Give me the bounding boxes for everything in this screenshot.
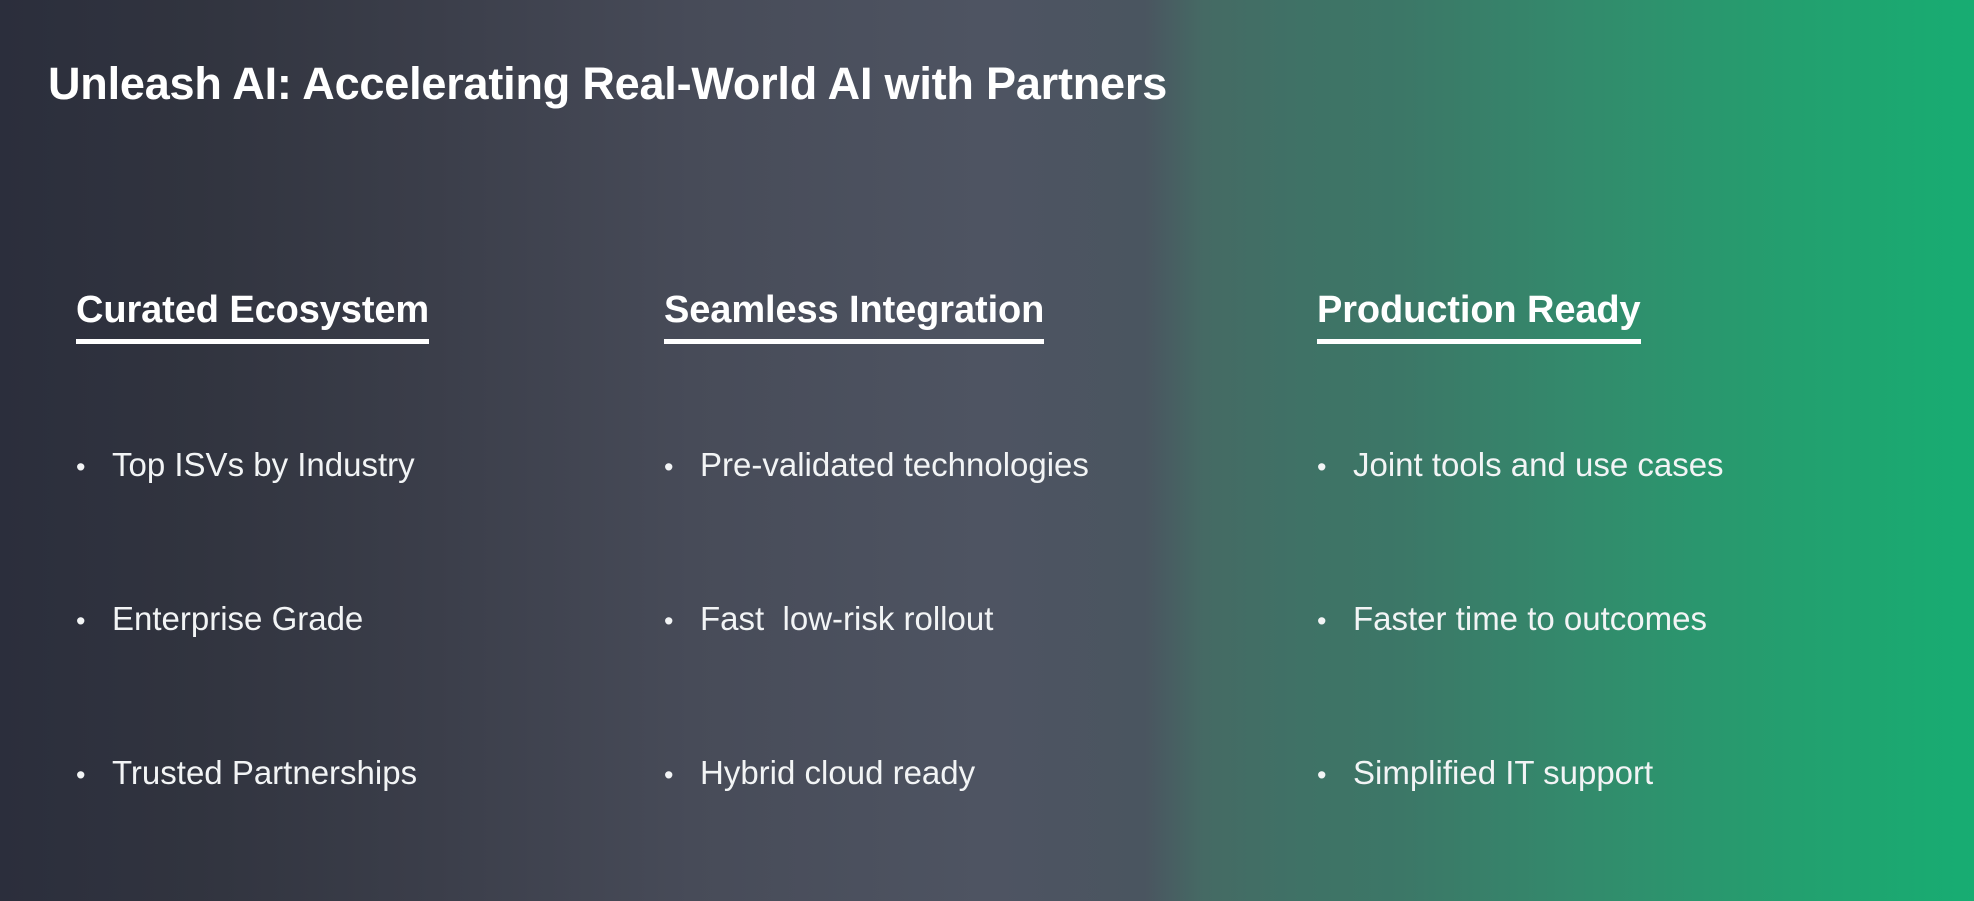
list-item: • Faster time to outcomes xyxy=(1317,602,1724,756)
bullet-list: • Top ISVs by Industry • Enterprise Grad… xyxy=(76,448,417,901)
list-item: • Pre-validated technologies xyxy=(664,448,1089,602)
list-item-label: Trusted Partnerships xyxy=(112,756,417,789)
column-curated-ecosystem: Curated Ecosystem • Top ISVs by Industry… xyxy=(0,290,645,850)
bullet-dot-icon: • xyxy=(1317,608,1353,635)
list-item: • Trusted Partnerships xyxy=(76,756,417,901)
presentation-slide: Unleash AI: Accelerating Real-World AI w… xyxy=(0,0,1974,901)
column-heading: Production Ready xyxy=(1317,290,1641,344)
list-item: • Hybrid cloud ready xyxy=(664,756,1089,901)
list-item-label: Faster time to outcomes xyxy=(1353,602,1707,635)
column-heading: Curated Ecosystem xyxy=(76,290,429,344)
list-item-label: Top ISVs by Industry xyxy=(112,448,415,481)
bullet-dot-icon: • xyxy=(664,608,700,635)
bullet-list: • Joint tools and use cases • Faster tim… xyxy=(1317,448,1724,901)
column-heading: Seamless Integration xyxy=(664,290,1044,344)
list-item-label: Pre-validated technologies xyxy=(700,448,1089,481)
list-item: • Top ISVs by Industry xyxy=(76,448,417,602)
list-item-label: Hybrid cloud ready xyxy=(700,756,975,789)
bullet-dot-icon: • xyxy=(1317,454,1353,481)
list-item: • Joint tools and use cases xyxy=(1317,448,1724,602)
bullet-dot-icon: • xyxy=(76,762,112,789)
bullet-dot-icon: • xyxy=(1317,762,1353,789)
list-item-label: Fast low-risk rollout xyxy=(700,602,993,635)
list-item-label: Simplified IT support xyxy=(1353,756,1653,789)
bullet-dot-icon: • xyxy=(76,608,112,635)
list-item-label: Joint tools and use cases xyxy=(1353,448,1724,481)
column-production-ready: Production Ready • Joint tools and use c… xyxy=(1297,290,1974,850)
bullet-dot-icon: • xyxy=(664,762,700,789)
bullet-list: • Pre-validated technologies • Fast low-… xyxy=(664,448,1089,901)
columns-container: Curated Ecosystem • Top ISVs by Industry… xyxy=(0,290,1974,850)
bullet-dot-icon: • xyxy=(664,454,700,481)
page-title: Unleash AI: Accelerating Real-World AI w… xyxy=(48,58,1648,110)
column-seamless-integration: Seamless Integration • Pre-validated tec… xyxy=(645,290,1297,850)
list-item: • Enterprise Grade xyxy=(76,602,417,756)
list-item-label: Enterprise Grade xyxy=(112,602,363,635)
list-item: • Simplified IT support xyxy=(1317,756,1724,901)
list-item: • Fast low-risk rollout xyxy=(664,602,1089,756)
bullet-dot-icon: • xyxy=(76,454,112,481)
